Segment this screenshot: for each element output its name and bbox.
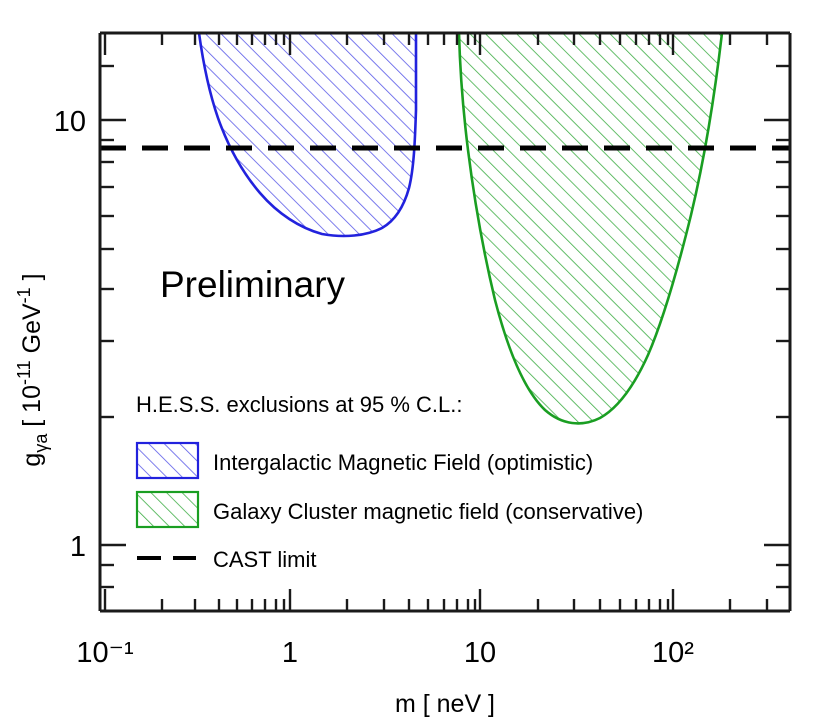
legend-label-intergalactic: Intergalactic Magnetic Field (optimistic… [213,450,593,475]
y-title-unit-exp2: -1 [14,287,34,303]
y-axis-title: gγa [ 10-11 GeV-1 ] [14,273,51,466]
y-title-unit-close: ] [18,273,46,287]
x-tick-label-0: 10⁻¹ [76,637,134,669]
svg-text:gγa [ 10-11 GeV-1 ]: gγa [ 10-11 GeV-1 ] [14,273,51,466]
x-axis-title: m [ neV ] [395,690,495,718]
legend-swatch-blue-hatch [137,443,198,478]
axion-exclusion-plot: 10 1 10⁻¹ 1 10 10² m [ neV ] gγa [ 10-11… [0,0,830,727]
y-tick-label-10: 10 [54,106,86,138]
y-title-symbol-sub: γa [31,433,51,453]
x-tick-label-1: 1 [282,637,298,669]
x-tick-label-2: 10 [464,637,496,669]
legend-swatch-green-hatch [137,492,198,527]
legend-item-galaxy-cluster[interactable]: Galaxy Cluster magnetic field (conservat… [137,492,643,527]
x-tick-label-3: 10² [652,637,694,669]
legend-label-cast-limit: CAST limit [213,547,317,572]
series-galaxy-cluster-magnetic-field [459,33,722,423]
legend-header: H.E.S.S. exclusions at 95 % C.L.: [136,392,462,417]
plot-canvas: 10 1 10⁻¹ 1 10 10² m [ neV ] gγa [ 10-11… [0,0,830,727]
galaxy-cluster-region-fill [459,33,722,423]
y-title-symbol: g [18,453,46,467]
legend-label-galaxy-cluster: Galaxy Cluster magnetic field (conservat… [213,499,643,524]
legend-item-intergalactic[interactable]: Intergalactic Magnetic Field (optimistic… [137,443,593,478]
legend-item-cast-limit[interactable]: CAST limit [137,547,317,572]
series-intergalactic-magnetic-field [199,33,416,236]
y-title-unit-rest: GeV [18,303,46,360]
preliminary-annotation: Preliminary [160,264,346,305]
y-title-unit-open: [ 10 [18,385,46,434]
y-tick-label-1: 1 [70,531,86,563]
intergalactic-region-fill [199,33,416,236]
y-title-unit-exp: -11 [14,360,34,385]
